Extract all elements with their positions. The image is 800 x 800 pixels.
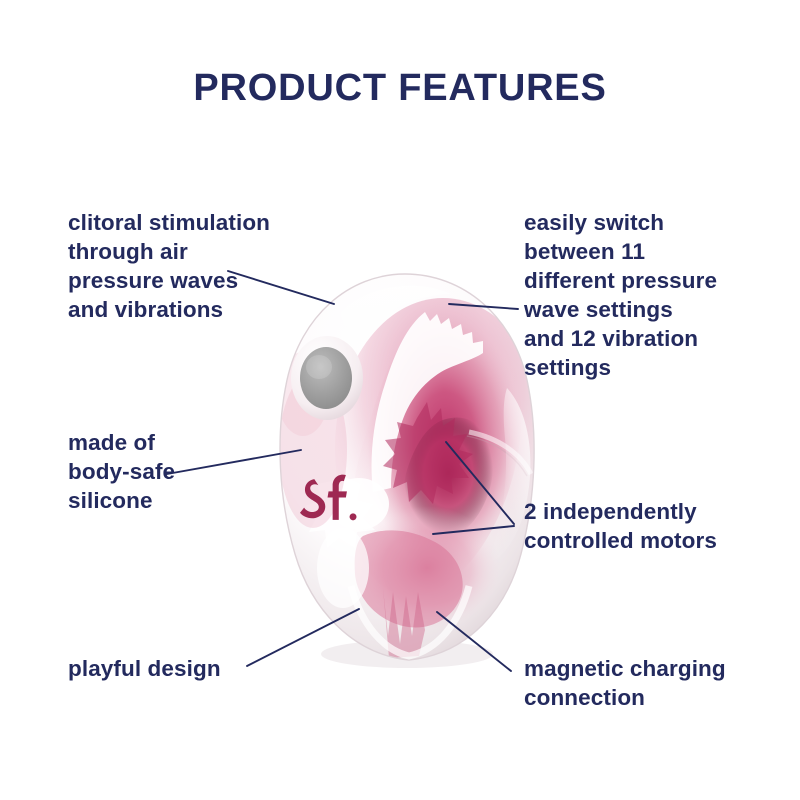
product-illustration bbox=[255, 268, 555, 668]
feature-label-independent-motors: 2 independently controlled motors bbox=[524, 497, 774, 555]
feature-label-clitoral-stimulation: clitoral stimulation through air pressur… bbox=[68, 208, 328, 324]
nozzle-opening bbox=[300, 347, 352, 409]
feature-label-body-safe-silicone: made of body-safe silicone bbox=[68, 428, 258, 515]
feature-label-playful-design: playful design bbox=[68, 654, 298, 683]
page-title: PRODUCT FEATURES bbox=[0, 68, 800, 110]
feature-label-pressure-wave-settings: easily switch between 11 different press… bbox=[524, 208, 770, 382]
product-features-infographic: PRODUCT FEATURES bbox=[0, 0, 800, 800]
nozzle-highlight bbox=[306, 355, 332, 379]
feature-label-magnetic-charging: magnetic charging connection bbox=[524, 654, 774, 712]
